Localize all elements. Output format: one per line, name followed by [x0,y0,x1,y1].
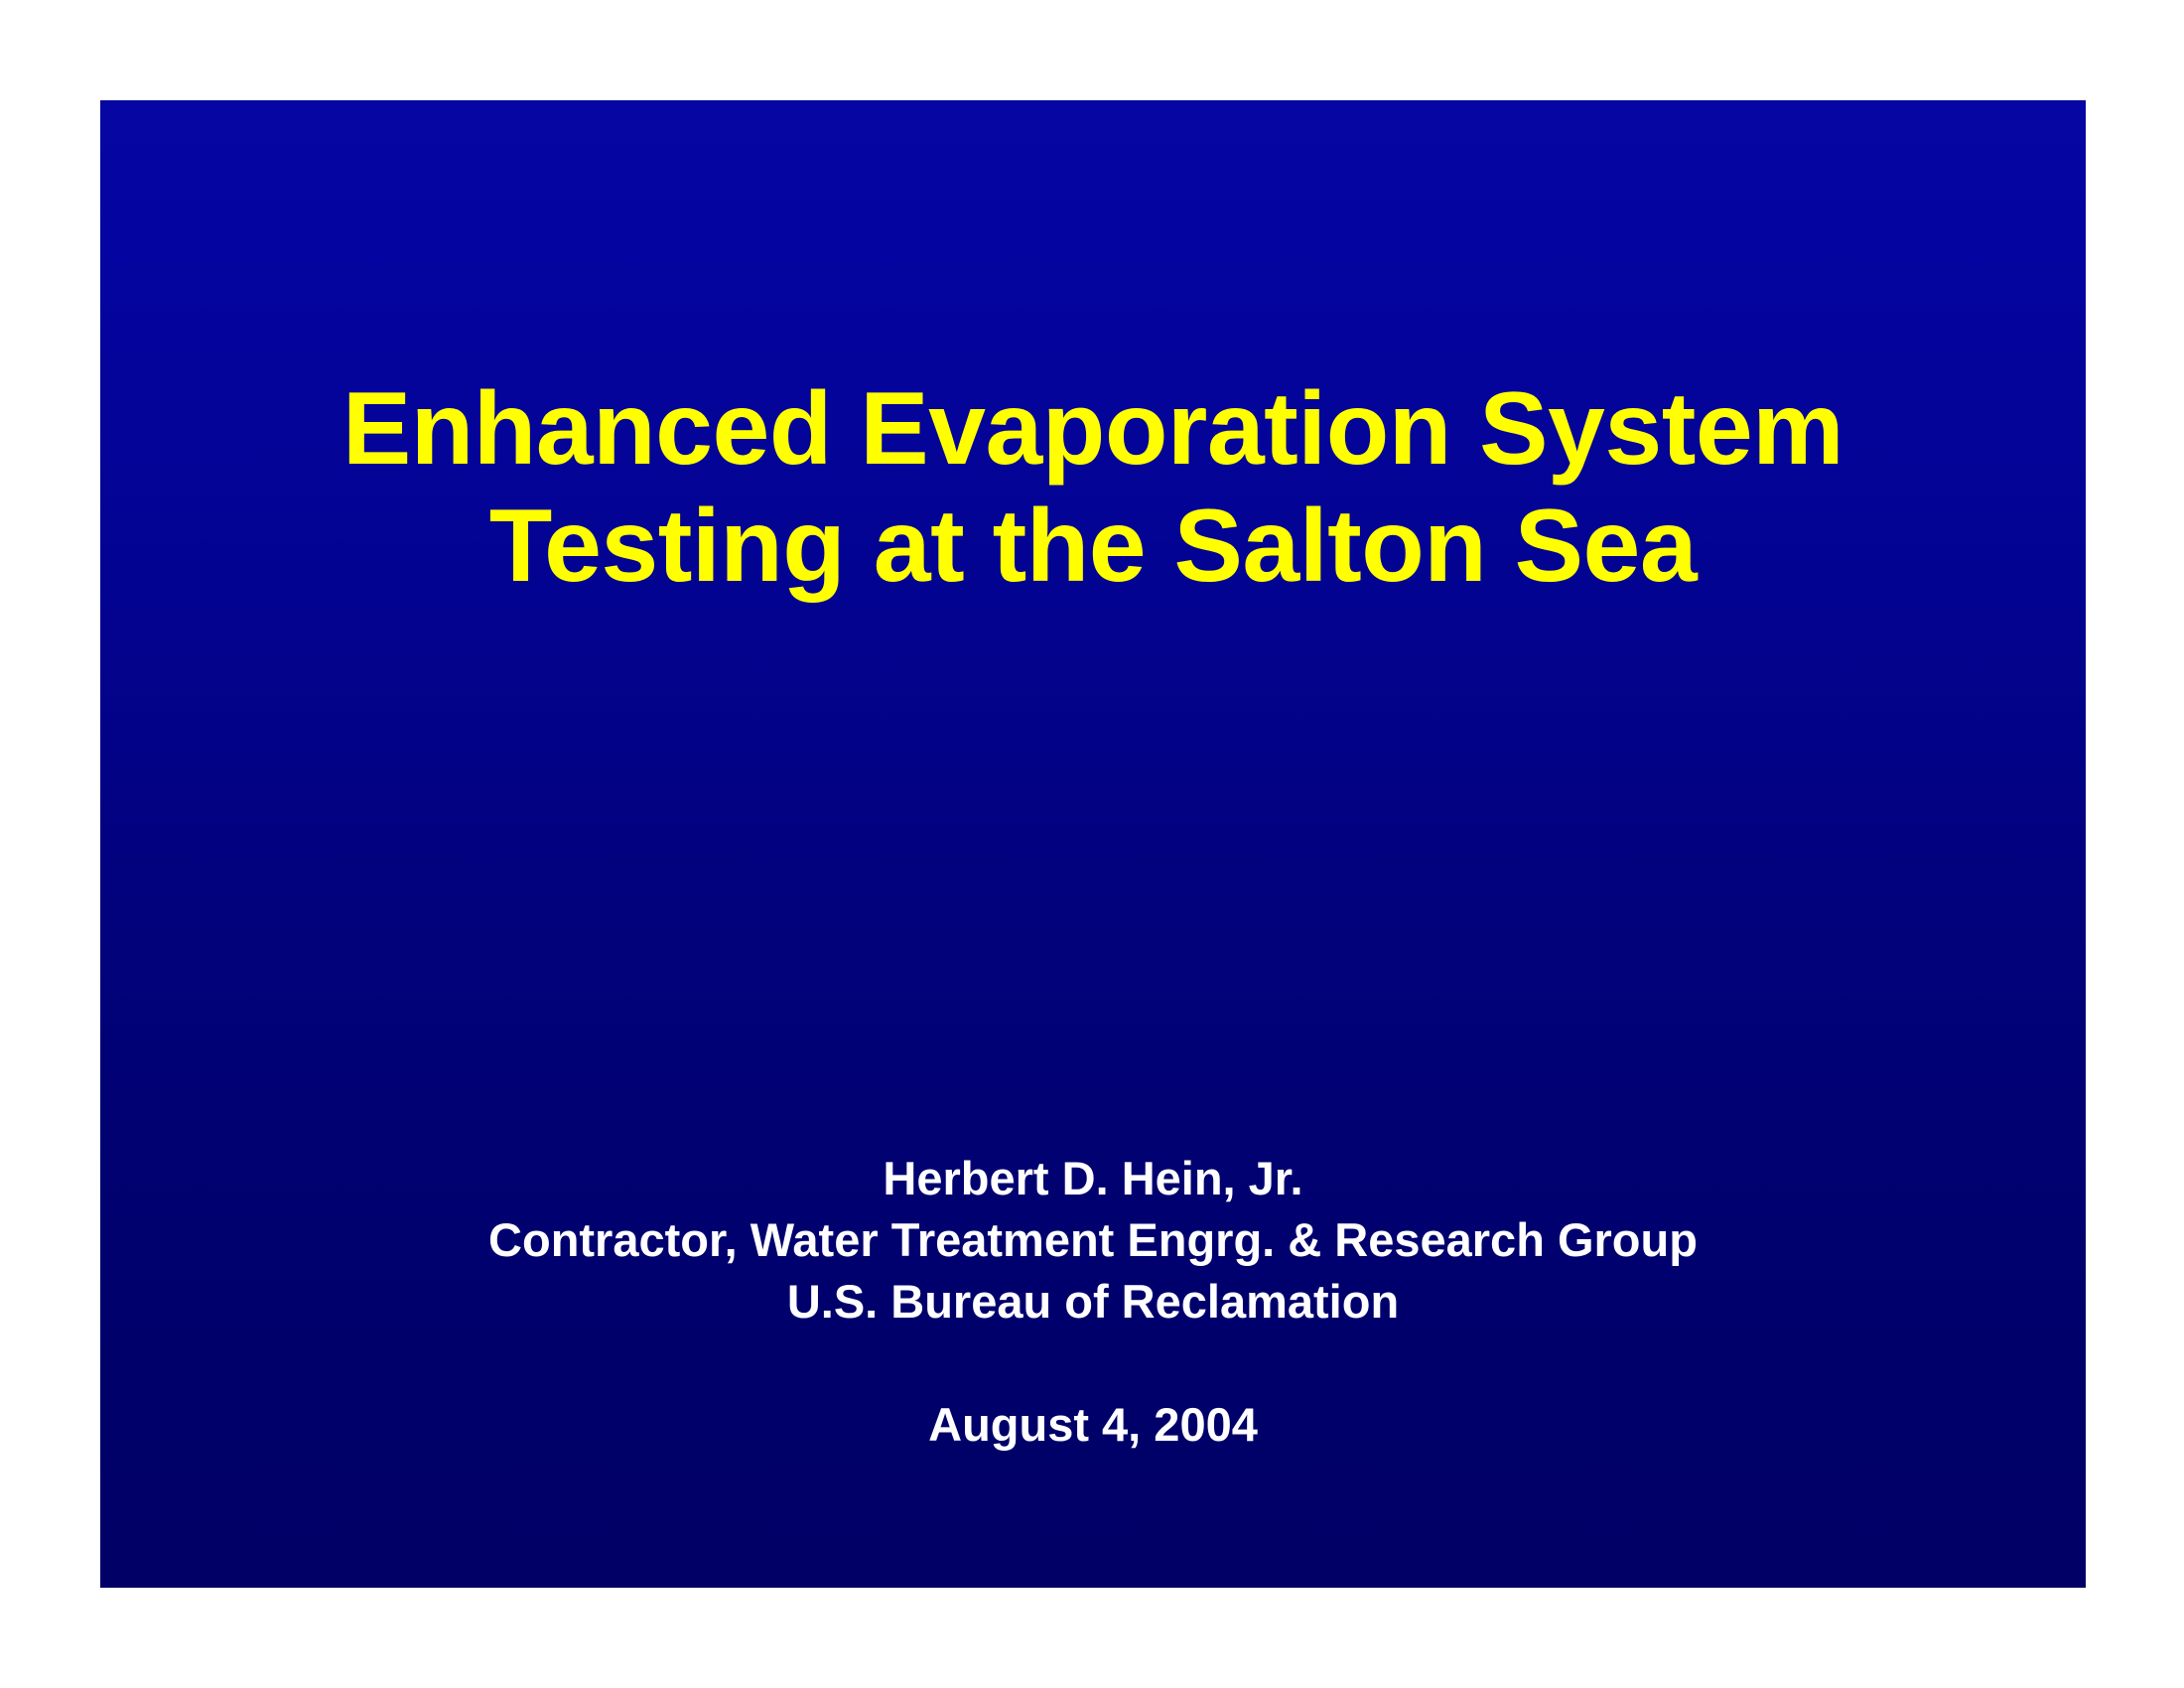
presenter-name: Herbert D. Hein, Jr. [100,1148,2086,1209]
presentation-slide: Enhanced Evaporation System Testing at t… [100,100,2086,1588]
presenter-organization: U.S. Bureau of Reclamation [100,1271,2086,1333]
slide-author-block: Herbert D. Hein, Jr. Contractor, Water T… [100,1148,2086,1456]
presenter-affiliation: Contractor, Water Treatment Engrg. & Res… [100,1209,2086,1271]
slide-title-line-2: Testing at the Salton Sea [100,488,2086,605]
author-block-spacer [100,1333,2086,1394]
presentation-date: August 4, 2004 [100,1394,2086,1456]
slide-title-block: Enhanced Evaporation System Testing at t… [100,370,2086,605]
slide-title-line-1: Enhanced Evaporation System [100,370,2086,488]
slide-canvas: Enhanced Evaporation System Testing at t… [0,0,2184,1688]
